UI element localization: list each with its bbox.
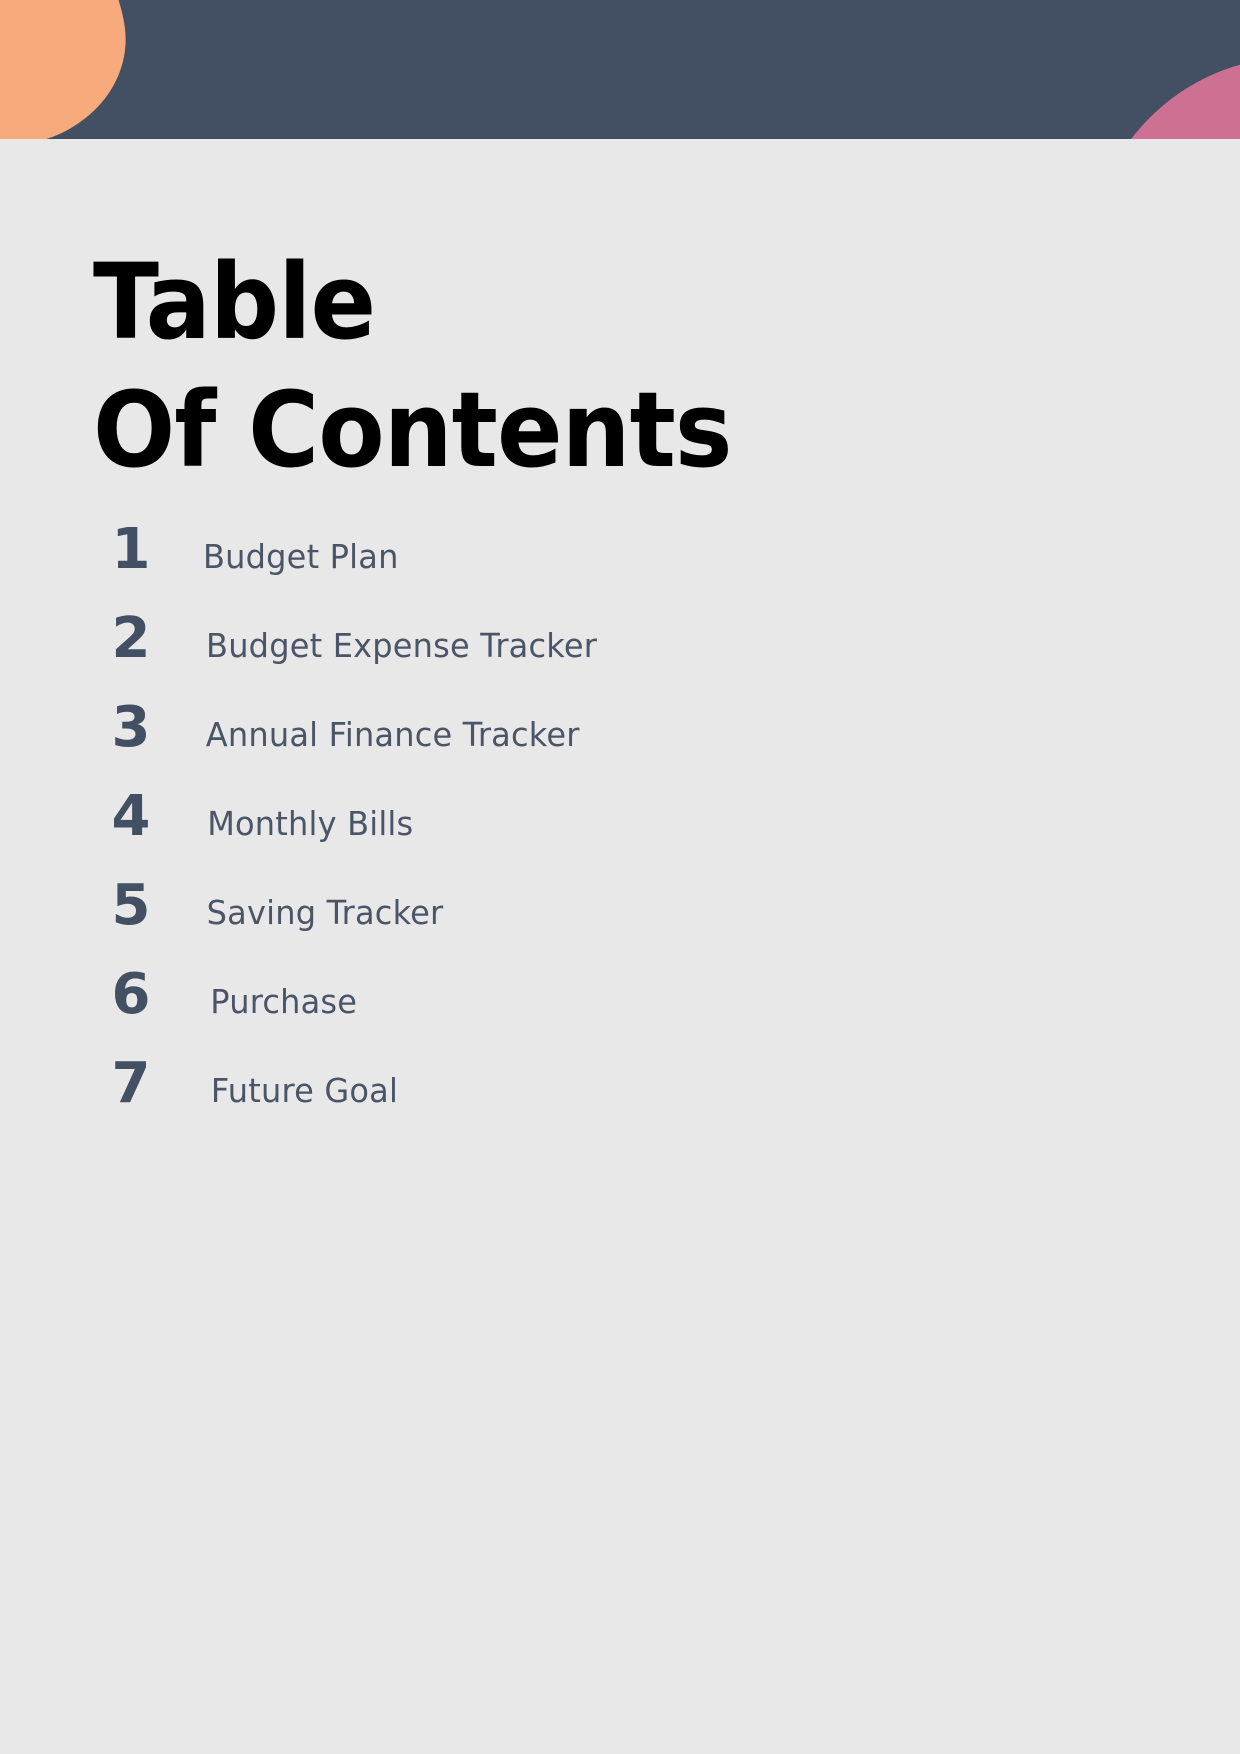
toc-item-6[interactable]: 6 Purchase [93,967,1053,1056]
toc-item-3[interactable]: 3 Annual Finance Tracker [93,700,1053,789]
table-of-contents-page: Table Of Contents 1 Budget Plan 2 Budget… [0,0,1240,1754]
toc-item-label: Budget Plan [203,537,399,577]
toc-item-number: 6 [93,967,168,1023]
toc-item-number: 5 [93,878,168,934]
toc-item-number: 7 [93,1056,168,1112]
page-title-line-2: Of Contents [93,366,930,494]
page-title-line-1: Table [93,238,930,366]
toc-item-label: Future Goal [211,1071,398,1111]
toc-item-label: Saving Tracker [207,893,444,933]
pink-blob-decoration [1068,7,1240,139]
toc-item-number: 4 [93,789,168,845]
toc-item-number: 1 [93,522,168,578]
toc-item-label: Monthly Bills [207,804,413,844]
toc-item-4[interactable]: 4 Monthly Bills [93,789,1053,878]
toc-item-5[interactable]: 5 Saving Tracker [93,878,1053,967]
toc-list: 1 Budget Plan 2 Budget Expense Tracker 3… [93,522,1053,1145]
orange-blob-decoration [0,0,139,139]
toc-item-label: Annual Finance Tracker [206,715,580,755]
toc-item-2[interactable]: 2 Budget Expense Tracker [93,611,1053,700]
header-band [0,0,1240,139]
toc-item-7[interactable]: 7 Future Goal [93,1056,1053,1145]
toc-item-1[interactable]: 1 Budget Plan [93,522,1053,611]
page-title: Table Of Contents [93,238,993,494]
toc-item-label: Budget Expense Tracker [206,626,597,666]
toc-item-number: 3 [93,700,168,756]
toc-item-number: 2 [93,611,168,667]
toc-item-label: Purchase [210,982,357,1022]
